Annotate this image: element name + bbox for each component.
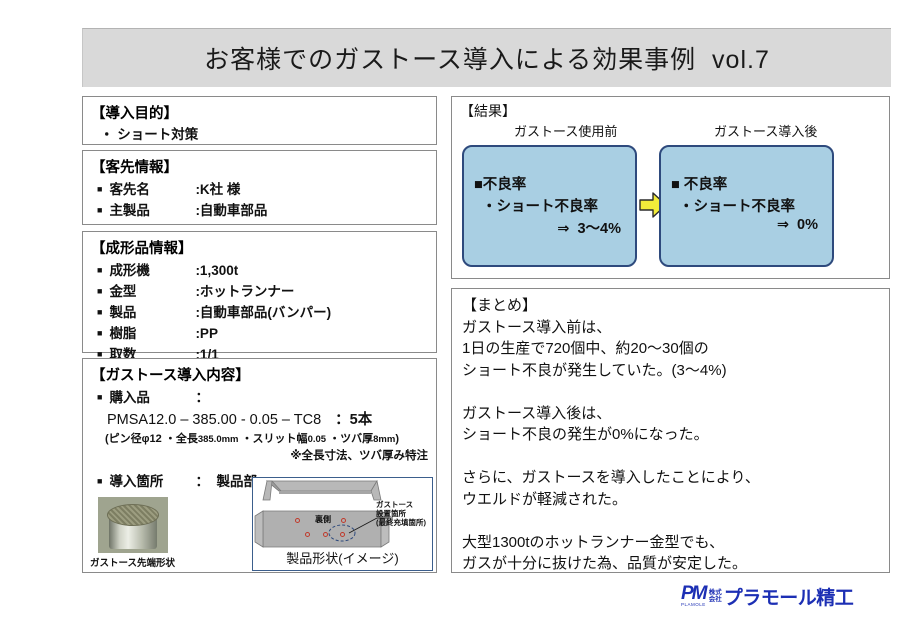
molding-row-value: :PP bbox=[195, 326, 218, 341]
molding-heading: 【成形品情報】 bbox=[91, 237, 436, 258]
customer-heading: 【客先情報】 bbox=[91, 156, 436, 177]
result-before-title: ガストース使用前 bbox=[514, 121, 617, 140]
product-shape-caption: 製品形状(イメージ) bbox=[253, 548, 432, 567]
slide-canvas: お客様でのガストース導入による効果事例 vol.7 【導入目的】 ・ ショート対… bbox=[0, 0, 899, 629]
torch-tip-caption: ガストース先端形状 bbox=[90, 555, 175, 569]
spec-mid: ・スリット幅 bbox=[239, 433, 308, 445]
spec-flange-thickness: 8mm bbox=[373, 434, 395, 445]
product-shape-diagram: 裏側 ガストース 設置箇所 (最終充填箇所) 製品形状(イメージ) bbox=[252, 477, 433, 571]
purchase-colon: ： bbox=[195, 386, 209, 406]
molding-row-value: :自動車部品(バンパー) bbox=[195, 301, 331, 321]
purpose-item-0: ・ ショート対策 bbox=[91, 123, 436, 143]
molding-row-label: 樹脂 bbox=[109, 322, 195, 342]
gate-hole bbox=[323, 532, 328, 537]
result-after-title: ガストース導入後 bbox=[714, 121, 817, 140]
spec-slit-width: 0.05 bbox=[308, 434, 327, 445]
after-short-defect-label: ・ショート不良率 bbox=[679, 195, 795, 216]
gate-hole bbox=[341, 518, 346, 523]
purchase-row: ■ 購入品 ： bbox=[91, 386, 436, 406]
panel-customer-info: 【客先情報】 ■ 客先名 :K社 様 ■ 主製品 :自動車部品 bbox=[82, 150, 437, 225]
gate-hole bbox=[305, 532, 310, 537]
content-heading: 【ガストース導入内容】 bbox=[91, 364, 436, 385]
square-bullet-icon: ■ bbox=[97, 477, 102, 486]
customer-row-value: :K社 様 bbox=[195, 178, 240, 198]
molding-row: ■ 金型 :ホットランナー bbox=[91, 280, 436, 300]
gate-hole-final-fill bbox=[340, 532, 345, 537]
molding-row: ■ 製品 :自動車部品(バンパー) bbox=[91, 301, 436, 321]
torch-tip-face bbox=[107, 504, 159, 526]
product-code-row: PMSA12.0 – 385.00 - 0.05 – TC8：5本 bbox=[91, 408, 436, 429]
spec-length: 385.0mm bbox=[198, 434, 239, 445]
logo-monogram: PM PLAMOLE bbox=[681, 585, 706, 607]
result-card-after: ■ 不良率 ・ショート不良率 ⇒ 0% bbox=[659, 145, 834, 267]
logo-kk-line1: 株式 bbox=[709, 589, 722, 597]
after-defect-rate-label: ■ 不良率 bbox=[671, 173, 727, 194]
square-bullet-icon: ■ bbox=[97, 393, 102, 402]
customer-row-label: 主製品 bbox=[109, 199, 195, 219]
molding-row-label: 金型 bbox=[109, 280, 195, 300]
torch-tip-photo bbox=[98, 497, 168, 553]
spec-note: ※全長寸法、ツバ厚み特注 bbox=[91, 447, 436, 463]
molding-row-value: :1,300t bbox=[195, 263, 238, 278]
molding-row: ■ 成形機 :1,300t bbox=[91, 259, 436, 279]
logo-kk-line2: 会社 bbox=[709, 596, 722, 604]
logo-mark-text: PM bbox=[681, 585, 706, 602]
customer-row: ■ 主製品 :自動車部品 bbox=[91, 199, 436, 219]
square-bullet-icon: ■ bbox=[97, 287, 102, 296]
spec-close: ) bbox=[395, 433, 399, 445]
molding-row-label: 製品 bbox=[109, 301, 195, 321]
customer-row-value: :自動車部品 bbox=[195, 199, 267, 219]
spec-mid2: ・ツバ厚 bbox=[326, 433, 373, 445]
location-label: 導入箇所 bbox=[109, 470, 195, 490]
gas-torch-location-callout: ガストース 設置箇所 (最終充填箇所) bbox=[376, 500, 428, 527]
panel-summary: 【まとめ】 ガストース導入前は、 1日の生産で720個中、約20〜30個の ショ… bbox=[451, 288, 890, 573]
panel-result: 【結果】 ガストース使用前 ガストース導入後 ■不良率 ・ショート不良率 ⇒ 3… bbox=[451, 96, 890, 279]
page-title: お客様でのガストース導入による効果事例 vol.7 bbox=[204, 40, 770, 76]
molding-row-label: 成形機 bbox=[109, 259, 195, 279]
purchase-label: 購入品 bbox=[109, 386, 195, 406]
square-bullet-icon: ■ bbox=[97, 308, 102, 317]
panel-molding-info: 【成形品情報】 ■ 成形機 :1,300t ■ 金型 :ホットランナー ■ 製品… bbox=[82, 231, 437, 353]
backside-label: 裏側 bbox=[315, 514, 331, 525]
square-bullet-icon: ■ bbox=[97, 266, 102, 275]
before-short-defect-value: ⇒ 3〜4% bbox=[557, 217, 621, 238]
location-value: ： 製品部 bbox=[195, 470, 257, 490]
result-heading: 【結果】 bbox=[460, 101, 516, 121]
slide-title-bar: お客様でのガストース導入による効果事例 vol.7 bbox=[82, 28, 891, 87]
summary-text: 【まとめ】 ガストース導入前は、 1日の生産で720個中、約20〜30個の ショ… bbox=[462, 295, 760, 575]
molding-row-value: :ホットランナー bbox=[195, 280, 294, 300]
result-card-before: ■不良率 ・ショート不良率 ⇒ 3〜4% bbox=[462, 145, 637, 267]
panel-purpose: 【導入目的】 ・ ショート対策 bbox=[82, 96, 437, 145]
product-code: PMSA12.0 – 385.00 - 0.05 – TC8 bbox=[107, 412, 321, 428]
purpose-heading: 【導入目的】 bbox=[91, 102, 436, 123]
customer-row-label: 客先名 bbox=[109, 178, 195, 198]
logo-kabushiki-kaisha: 株式 会社 bbox=[706, 589, 724, 604]
square-bullet-icon: ■ bbox=[97, 185, 102, 194]
square-bullet-icon: ■ bbox=[97, 329, 102, 338]
spec-open: (ピン径φ12 ・全長 bbox=[105, 433, 198, 445]
before-short-defect-label: ・ショート不良率 bbox=[482, 195, 598, 216]
logo-company-name: プラモール精工 bbox=[724, 583, 854, 610]
after-short-defect-value: ⇒ 0% bbox=[777, 217, 818, 233]
before-defect-rate-label: ■不良率 bbox=[474, 173, 526, 194]
product-spec-line: (ピン径φ12 ・全長385.0mm ・スリット幅0.05 ・ツバ厚8mm) bbox=[91, 430, 436, 446]
gate-hole bbox=[295, 518, 300, 523]
company-logo: PM PLAMOLE 株式 会社 プラモール精工 bbox=[681, 583, 843, 609]
logo-mark-subtext: PLAMOLE bbox=[681, 602, 706, 607]
square-bullet-icon: ■ bbox=[97, 206, 102, 215]
molding-row: ■ 樹脂 :PP bbox=[91, 322, 436, 342]
product-qty: ：5本 bbox=[321, 412, 372, 428]
customer-row: ■ 客先名 :K社 様 bbox=[91, 178, 436, 198]
